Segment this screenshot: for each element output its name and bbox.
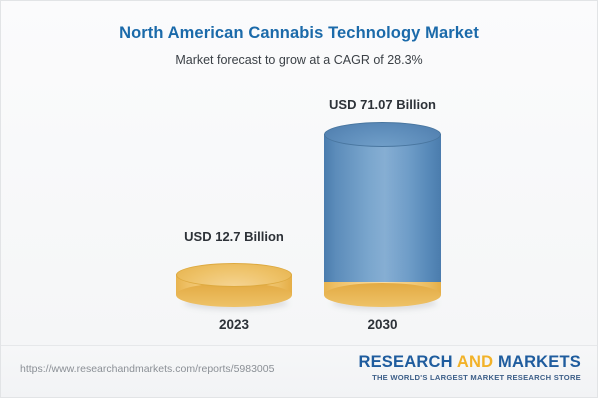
bar-top-ellipse-2023 (176, 263, 292, 287)
bar-body-2030 (324, 134, 441, 282)
logo-tagline: THE WORLD'S LARGEST MARKET RESEARCH STOR… (358, 373, 581, 382)
report-url[interactable]: https://www.researchandmarkets.com/repor… (20, 363, 274, 375)
bar-value-label-2030: USD 71.07 Billion (329, 97, 436, 112)
bar-value-label-2023: USD 12.7 Billion (184, 229, 284, 244)
chart-card: North American Cannabis Technology Marke… (0, 0, 598, 398)
category-label-2023: 2023 (219, 317, 249, 332)
bar-base-bottom-ellipse-2030 (324, 283, 441, 307)
research-and-markets-logo[interactable]: RESEARCH AND MARKETS THE WORLD'S LARGEST… (358, 353, 581, 382)
logo-word-and: AND (457, 353, 493, 371)
bar-group-2030: USD 71.07 Billion 2030 (324, 1, 441, 346)
bar-cylinder-2023[interactable] (176, 263, 292, 307)
logo-word-markets: MARKETS (493, 353, 581, 371)
category-label-2030: 2030 (367, 317, 397, 332)
logo-wordmark: RESEARCH AND MARKETS (358, 353, 581, 372)
plot-area: USD 12.7 Billion 2023 USD 71.07 Billion (1, 1, 598, 346)
bar-top-ellipse-2030 (324, 122, 441, 147)
logo-word-research: RESEARCH (358, 353, 456, 371)
bar-group-2023: USD 12.7 Billion 2023 (176, 1, 292, 346)
footer: https://www.researchandmarkets.com/repor… (1, 345, 598, 397)
bar-cylinder-2030[interactable] (324, 122, 441, 282)
